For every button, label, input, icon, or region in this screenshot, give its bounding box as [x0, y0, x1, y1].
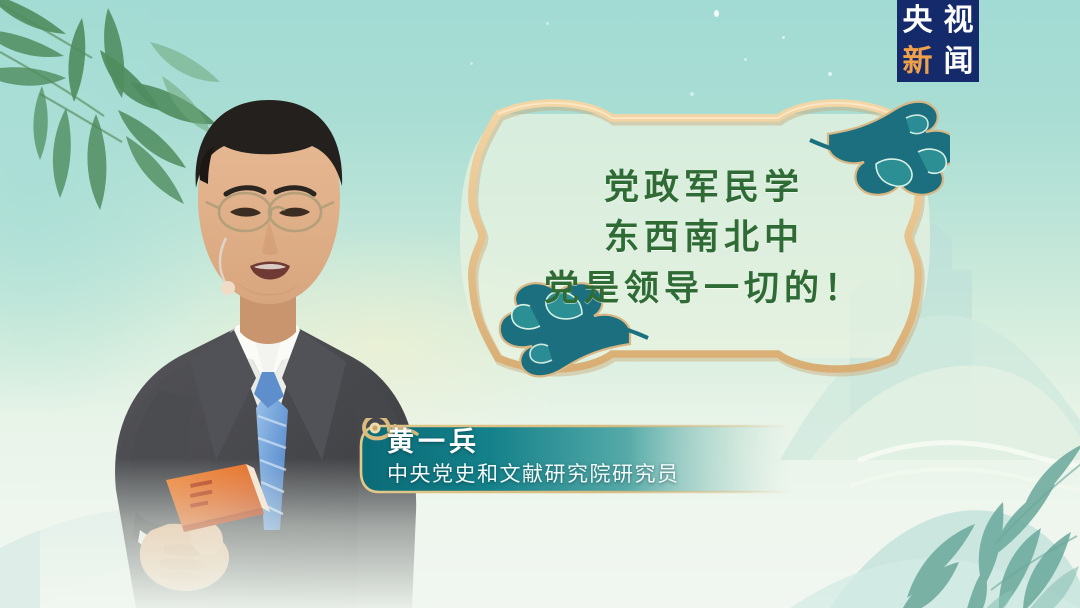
- broadcast-frame: 党政军民学 东西南北中 党是领导一切的！: [0, 0, 1080, 608]
- bamboo-decoration-bottom-right: [855, 440, 1080, 608]
- sparkle-dot: [470, 62, 473, 65]
- channel-logo: 央 视 新 闻: [897, 0, 979, 82]
- logo-char-1: 央: [903, 6, 933, 36]
- logo-char-4: 闻: [944, 47, 974, 77]
- bamboo-decoration-top-left: [0, 0, 230, 225]
- sparkle-dot: [714, 10, 719, 17]
- sparkle-dot: [744, 58, 747, 61]
- quote-line-1: 党政军民学: [604, 167, 804, 208]
- speaker-title: 中央党史和文献研究院研究员: [387, 461, 777, 488]
- quote-line-2: 东西南北中: [604, 217, 804, 258]
- quote-card: 党政军民学 东西南北中 党是领导一切的！: [440, 88, 950, 384]
- sparkle-dot: [546, 22, 549, 25]
- lower-third-nameplate: 黄一兵 中央党史和文献研究院研究员: [357, 418, 791, 500]
- nameplate-text: 黄一兵 中央党史和文献研究院研究员: [387, 427, 777, 488]
- quote-text-block: 党政军民学 东西南北中 党是领导一切的！: [440, 88, 950, 384]
- logo-char-3: 新: [903, 47, 933, 77]
- sparkle-dot: [828, 72, 832, 76]
- sparkle-dot: [782, 36, 785, 39]
- speaker-name: 黄一兵: [387, 427, 777, 459]
- mountain-silhouette-bottom-right: [790, 430, 1080, 608]
- background-wash-left: [0, 0, 400, 608]
- quote-line-3: 党是领导一切的！: [544, 268, 864, 309]
- mist-ribbons: [850, 430, 1080, 520]
- logo-char-2: 视: [944, 6, 974, 36]
- speaker-figure: [40, 60, 470, 608]
